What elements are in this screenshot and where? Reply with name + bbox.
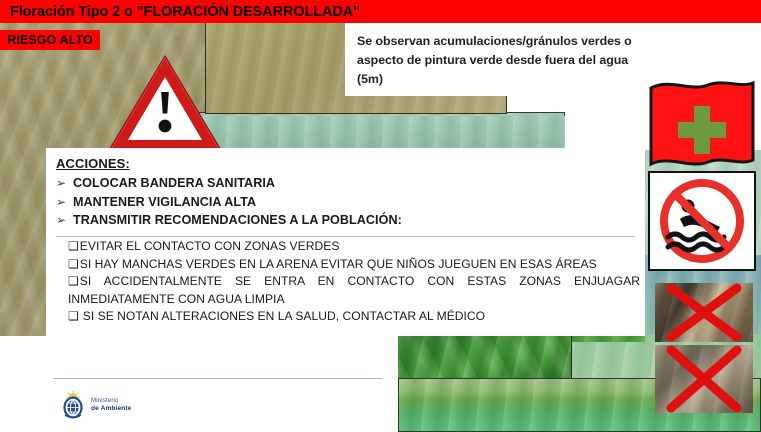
panel-divider (56, 236, 635, 237)
footer-rule (53, 378, 383, 379)
recommendation-item: ❑SI SE NOTAN ALTERACIONES EN LA SALUD, C… (68, 308, 640, 325)
actions-list: ➢ COLOCAR BANDERA SANITARIA ➢ MANTENER V… (56, 174, 635, 230)
actions-panel: ACCIONES: ➢ COLOCAR BANDERA SANITARIA ➢ … (46, 148, 645, 336)
description-text: Se observan acumulaciones/gránulos verde… (357, 32, 634, 89)
actions-heading: ACCIONES: (56, 156, 635, 171)
ministry-emblem-icon (60, 390, 86, 420)
recommendation-item: ❑EVITAR EL CONTACTO CON ZONAS VERDES (68, 238, 640, 255)
arrow-bullet-icon: ➢ (56, 212, 73, 230)
action-item: ➢ MANTENER VIGILANCIA ALTA (56, 193, 635, 212)
advisory-slide: Floración Tipo 2 o "FLORACIÓN DESARROLLA… (0, 0, 761, 432)
no-swimming-icon (648, 171, 756, 271)
forbidden-photo-dog-beach (655, 283, 753, 342)
action-item-label: TRANSMITIR RECOMENDACIONES A LA POBLACIÓ… (73, 211, 402, 230)
description-box: Se observan acumulaciones/gránulos verde… (345, 23, 646, 96)
recommendation-label: SI HAY MANCHAS VERDES EN LA ARENA EVITAR… (80, 257, 597, 271)
recommendation-item: ❑SI ACCIDENTALMENTE SE ENTRA EN CONTACTO… (68, 273, 640, 307)
sanitary-flag-icon (648, 76, 756, 171)
photo-pale-algae-strip (175, 116, 565, 152)
checkbox-icon: ❑ (68, 257, 79, 271)
action-item-label: MANTENER VIGILANCIA ALTA (73, 193, 256, 212)
warning-triangle-icon (106, 52, 224, 156)
checkbox-icon: ❑ (68, 274, 79, 288)
recommendations-list: ❑EVITAR EL CONTACTO CON ZONAS VERDES ❑SI… (68, 238, 640, 326)
title-bar: Floración Tipo 2 o "FLORACIÓN DESARROLLA… (0, 0, 761, 23)
checkbox-icon: ❑ (68, 309, 79, 323)
arrow-bullet-icon: ➢ (56, 194, 73, 212)
page-title: Floración Tipo 2 o "FLORACIÓN DESARROLLA… (0, 4, 360, 20)
recommendation-label: SI SE NOTAN ALTERACIONES EN LA SALUD, CO… (83, 309, 485, 323)
action-item-label: COLOCAR BANDERA SANITARIA (73, 174, 275, 193)
arrow-bullet-icon: ➢ (56, 175, 73, 193)
ministry-wordmark: Ministerio de Ambiente (91, 398, 131, 412)
ministry-name-line2: de Ambiente (91, 405, 131, 412)
ministry-name-line1: Ministerio (91, 398, 131, 405)
forbidden-photo-child-water (655, 345, 753, 413)
recommendation-label: EVITAR EL CONTACTO CON ZONAS VERDES (80, 239, 340, 253)
checkbox-icon: ❑ (68, 239, 79, 253)
action-item: ➢ TRANSMITIR RECOMENDACIONES A LA POBLAC… (56, 211, 635, 230)
ministry-logo: Ministerio de Ambiente (60, 390, 190, 420)
recommendation-label: SI ACCIDENTALMENTE SE ENTRA EN CONTACTO … (68, 274, 640, 305)
recommendation-item: ❑SI HAY MANCHAS VERDES EN LA ARENA EVITA… (68, 256, 640, 273)
action-item: ➢ COLOCAR BANDERA SANITARIA (56, 174, 635, 193)
risk-level-label: RIESGO ALTO (7, 33, 93, 47)
risk-level-badge: RIESGO ALTO (0, 30, 100, 50)
